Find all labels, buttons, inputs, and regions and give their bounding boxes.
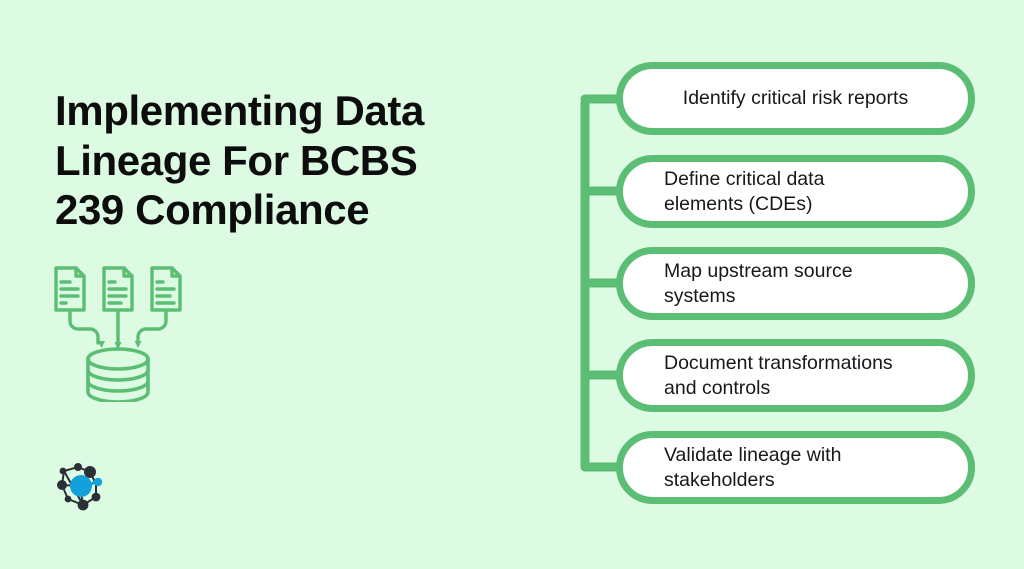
left-panel: Implementing Data Lineage For BCBS 239 C…: [0, 0, 560, 569]
step-card-3[interactable]: Map upstream source systems: [616, 247, 975, 320]
network-nodes-logo: [50, 455, 112, 517]
step-card-4[interactable]: Document transformations and controls: [616, 339, 975, 412]
step-label: Define critical data elements (CDEs): [623, 167, 824, 215]
page-title: Implementing Data Lineage For BCBS 239 C…: [55, 86, 525, 235]
process-step-list: Identify critical risk reports Define cr…: [560, 0, 1024, 569]
step-card-2[interactable]: Define critical data elements (CDEs): [616, 155, 975, 228]
step-label: Validate lineage with stakeholders: [623, 443, 841, 491]
step-label: Identify critical risk reports: [683, 86, 908, 110]
infographic-canvas: Implementing Data Lineage For BCBS 239 C…: [0, 0, 1024, 569]
step-label: Document transformations and controls: [623, 351, 893, 399]
documents-to-database-icon: [48, 252, 198, 402]
step-card-5[interactable]: Validate lineage with stakeholders: [616, 431, 975, 504]
step-label: Map upstream source systems: [623, 259, 853, 307]
step-card-1[interactable]: Identify critical risk reports: [616, 62, 975, 135]
process-flow-panel: Identify critical risk reports Define cr…: [560, 0, 1024, 569]
